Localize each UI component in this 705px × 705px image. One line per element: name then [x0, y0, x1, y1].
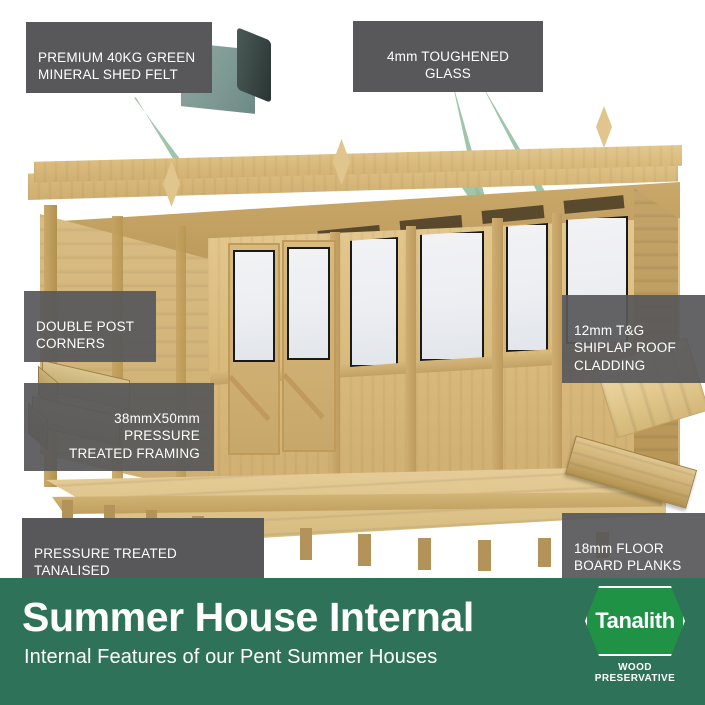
roof-fixing-plate: [596, 106, 612, 148]
callout-double-post-corners-text: DOUBLE POST CORNERS: [36, 319, 134, 352]
callout-shiplap-cladding-text: 12mm T&G SHIPLAP ROOF CLADDING: [574, 323, 676, 373]
window-pane: [420, 231, 484, 361]
floor-bearer: [478, 540, 491, 571]
floor-bearer: [358, 534, 371, 566]
floor-bearer: [300, 528, 312, 560]
window-pane: [506, 223, 548, 352]
tanalith-tagline: WOOD PRESERVATIVE: [579, 662, 691, 684]
callout-glass: 4mm TOUGHENED GLASS: [353, 21, 543, 92]
front-wall-stud: [552, 213, 562, 477]
tanalith-wordmark: Tanalith: [595, 608, 675, 634]
page-subtitle: Internal Features of our Pent Summer Hou…: [24, 646, 437, 669]
floor-bearer: [418, 538, 431, 570]
callout-roof-felt: PREMIUM 40KG GREEN MINERAL SHED FELT: [26, 22, 212, 93]
front-wall-stud: [492, 218, 503, 484]
infographic-page: PREMIUM 40KG GREEN MINERAL SHED FELT 4mm…: [0, 0, 705, 705]
door-left-glass: [233, 250, 275, 362]
front-wall-stud: [406, 226, 416, 494]
callout-framing: 38mmX50mm PRESSURE TREATED FRAMING: [24, 383, 214, 471]
callout-floor-boards: 18mm FLOOR BOARD PLANKS: [562, 513, 705, 578]
callout-shiplap-cladding: 12mm T&G SHIPLAP ROOF CLADDING: [562, 295, 705, 383]
callout-tanalised-timber-text: PRESSURE TREATED TANALISED TIMBER MATERI…: [34, 546, 177, 578]
summer-house-illustration: PREMIUM 40KG GREEN MINERAL SHED FELT 4mm…: [0, 0, 705, 578]
tanalith-badge-hexagon: Tanalith ®: [585, 586, 685, 656]
callout-framing-text: 38mmX50mm PRESSURE TREATED FRAMING: [69, 411, 200, 461]
door-right-glass: [287, 247, 330, 360]
callout-tanalised-timber: PRESSURE TREATED TANALISED TIMBER MATERI…: [22, 518, 264, 578]
callout-floor-boards-text: 18mm FLOOR BOARD PLANKS: [574, 541, 681, 574]
felt-roll-core: [237, 27, 271, 103]
callout-double-post-corners: DOUBLE POST CORNERS: [24, 291, 156, 362]
floor-bearer: [538, 538, 551, 567]
callout-roof-felt-text: PREMIUM 40KG GREEN MINERAL SHED FELT: [38, 50, 195, 83]
window-pane: [350, 237, 398, 367]
bottom-banner: Summer House Internal Internal Features …: [0, 578, 705, 705]
callout-glass-text: 4mm TOUGHENED GLASS: [387, 49, 509, 82]
tanalith-logo: Tanalith ® WOOD PRESERVATIVE: [579, 586, 691, 690]
page-title: Summer House Internal: [22, 594, 474, 641]
registered-trademark-icon: ®: [685, 589, 692, 599]
